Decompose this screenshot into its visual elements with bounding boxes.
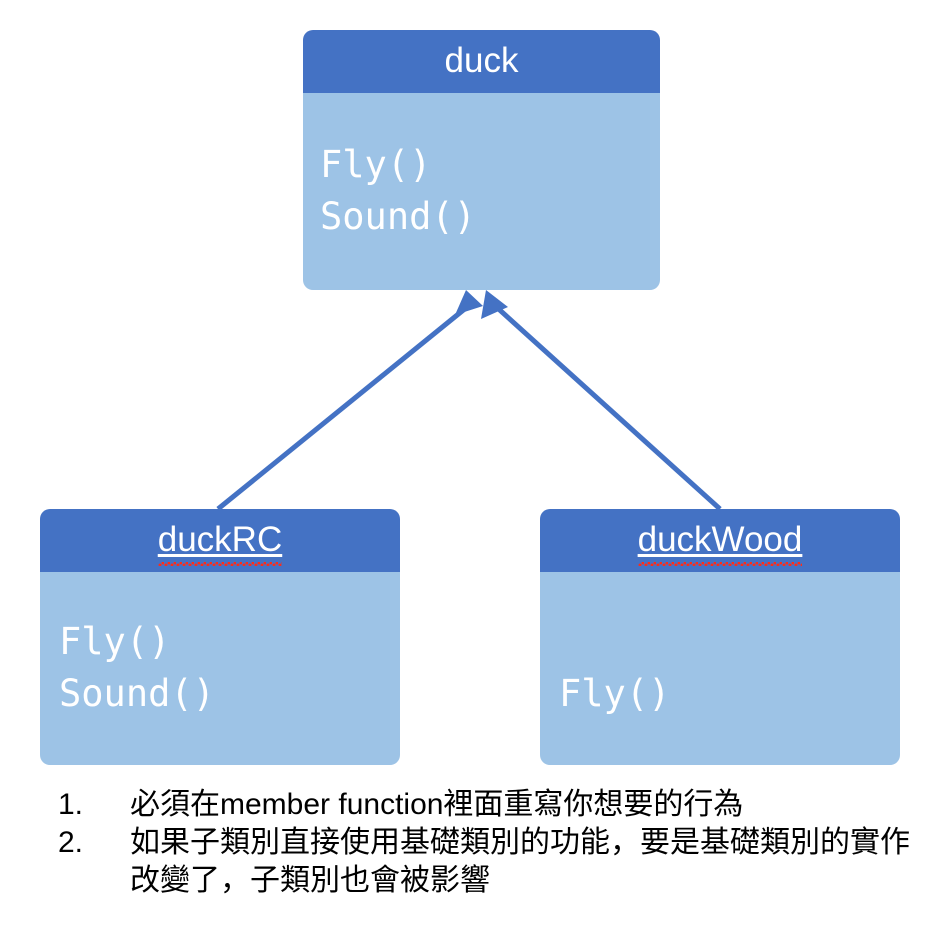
class-title-duck: duck (445, 43, 519, 80)
class-header-duckrc: duckRC (40, 509, 400, 572)
note-text: 必須在member function裡面重寫你想要的行為 (130, 786, 930, 824)
class-body-duck: Fly() Sound() (303, 93, 660, 290)
class-box-duckrc[interactable]: duckRC Fly() Sound() (40, 509, 400, 765)
note-text: 如果子類別直接使用基礎類別的功能，要是基礎類別的實作改變了，子類別也會被影響 (130, 824, 930, 900)
inheritance-arrow-duckrc-to-duck (218, 290, 483, 509)
class-title-duckrc-text: duckRC (158, 520, 282, 559)
class-box-duck[interactable]: duck Fly() Sound() (303, 30, 660, 290)
notes-list: 1. 必須在member function裡面重寫你想要的行為 2. 如果子類別… (50, 786, 930, 900)
member-list-duckwood: Fly() (559, 668, 900, 720)
note-number: 1. (50, 786, 130, 824)
spellcheck-squiggle-icon (158, 562, 282, 566)
class-title-duckwood-text: duckWood (638, 520, 803, 559)
class-header-duckwood: duckWood (540, 509, 900, 572)
class-header-duck: duck (303, 30, 660, 93)
class-title-duckwood: duckWood (638, 522, 803, 559)
member-list-duckrc: Fly() Sound() (59, 616, 400, 720)
diagram-canvas: duck Fly() Sound() duckRC Fly() Sound() … (0, 0, 939, 940)
note-number: 2. (50, 824, 130, 862)
list-item: 2. 如果子類別直接使用基礎類別的功能，要是基礎類別的實作改變了，子類別也會被影… (50, 824, 930, 900)
list-item: 1. 必須在member function裡面重寫你想要的行為 (50, 786, 930, 824)
class-box-duckwood[interactable]: duckWood Fly() (540, 509, 900, 765)
class-title-duckrc: duckRC (158, 522, 282, 559)
class-body-duckwood: Fly() (540, 572, 900, 765)
spellcheck-squiggle-icon (638, 562, 803, 566)
member-list-duck: Fly() Sound() (320, 139, 660, 243)
inheritance-arrow-duckwood-to-duck (481, 290, 720, 509)
class-body-duckrc: Fly() Sound() (40, 572, 400, 765)
